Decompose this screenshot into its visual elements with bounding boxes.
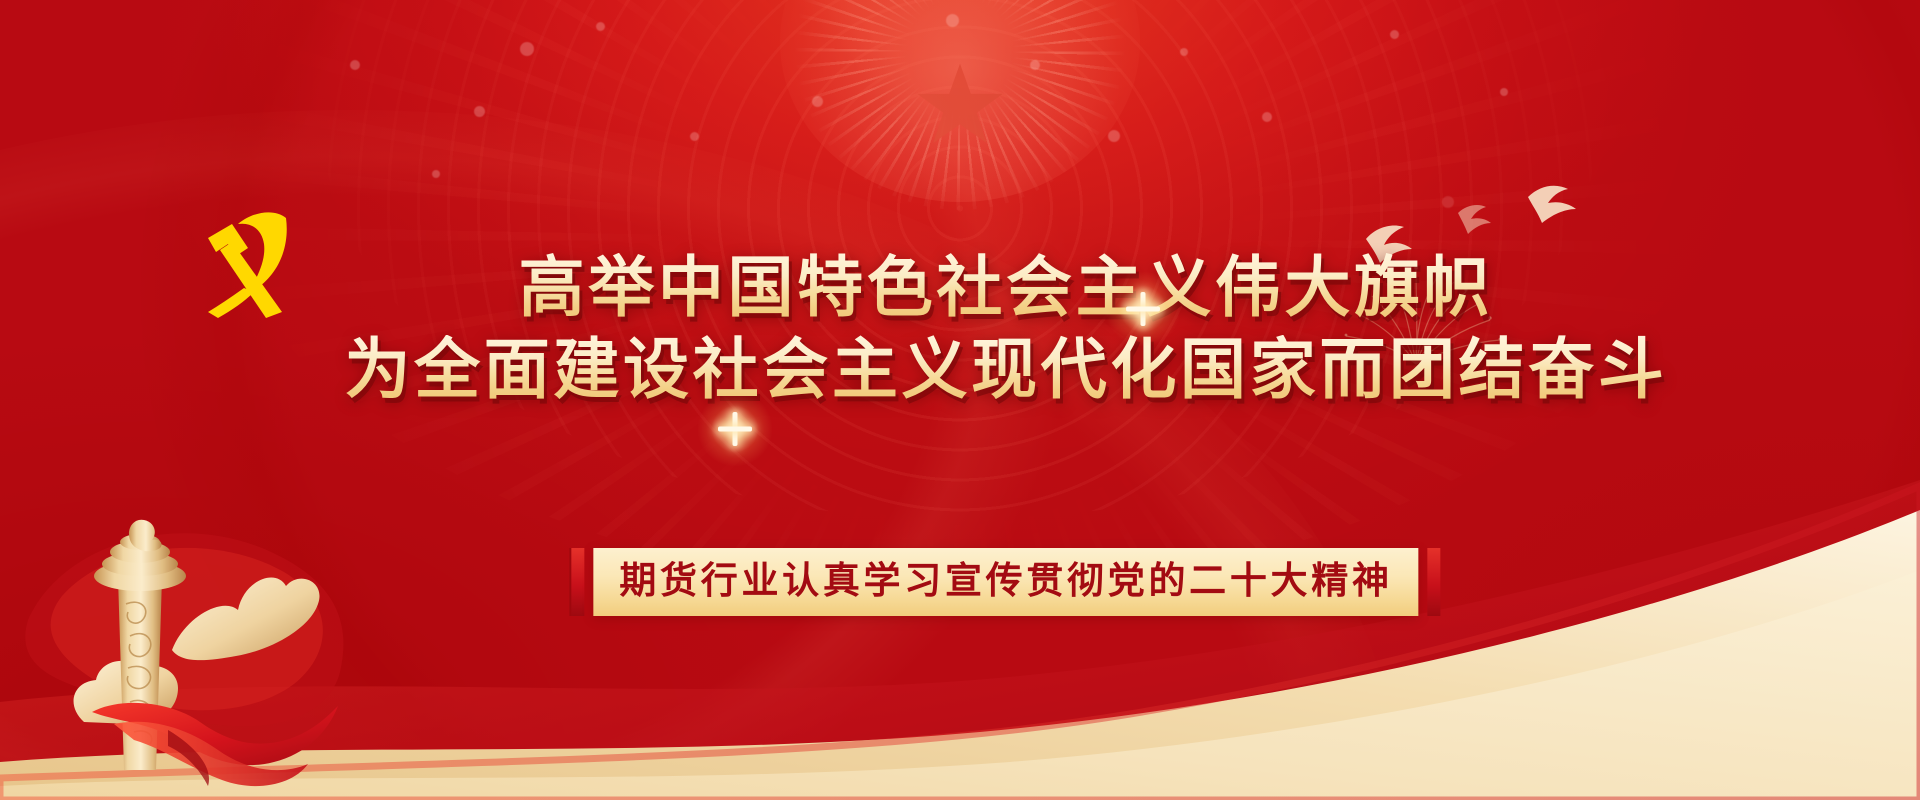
- huabiao-column-ornament: [22, 500, 352, 800]
- bokeh-dot: [812, 96, 823, 107]
- bokeh-dot: [1108, 130, 1120, 142]
- title-line-2: 为全面建设社会主义现代化国家而团结奋斗: [92, 335, 1920, 405]
- bokeh-dot: [520, 42, 534, 56]
- bokeh-dot: [690, 132, 699, 141]
- bokeh-dot: [474, 106, 485, 117]
- bokeh-dot: [596, 22, 605, 31]
- bokeh-dot: [350, 60, 360, 70]
- bokeh-dot: [432, 170, 440, 178]
- bokeh-dot: [1500, 88, 1508, 96]
- title-line-1: 高举中国特色社会主义伟大旗帜: [92, 253, 1920, 323]
- plaque-body: 期货行业认真学习宣传贯彻党的二十大精神: [593, 548, 1418, 616]
- bokeh-dot: [1180, 48, 1188, 56]
- banner-title-block: 高举中国特色社会主义伟大旗帜 为全面建设社会主义现代化国家而团结奋斗: [0, 253, 1920, 405]
- bokeh-dot: [1030, 60, 1040, 70]
- bokeh-dot: [1390, 30, 1399, 39]
- bokeh-dot: [946, 14, 959, 27]
- plaque-right-bar: [1428, 548, 1441, 616]
- bokeh-dot: [1262, 112, 1272, 122]
- subtitle-text: 期货行业认真学习宣传贯彻党的二十大精神: [619, 558, 1392, 604]
- subtitle-plaque: 期货行业认真学习宣传贯彻党的二十大精神: [571, 548, 1440, 616]
- party-congress-banner: 高举中国特色社会主义伟大旗帜 为全面建设社会主义现代化国家而团结奋斗 期货行业认…: [0, 0, 1920, 800]
- plaque-left-bar: [571, 548, 584, 616]
